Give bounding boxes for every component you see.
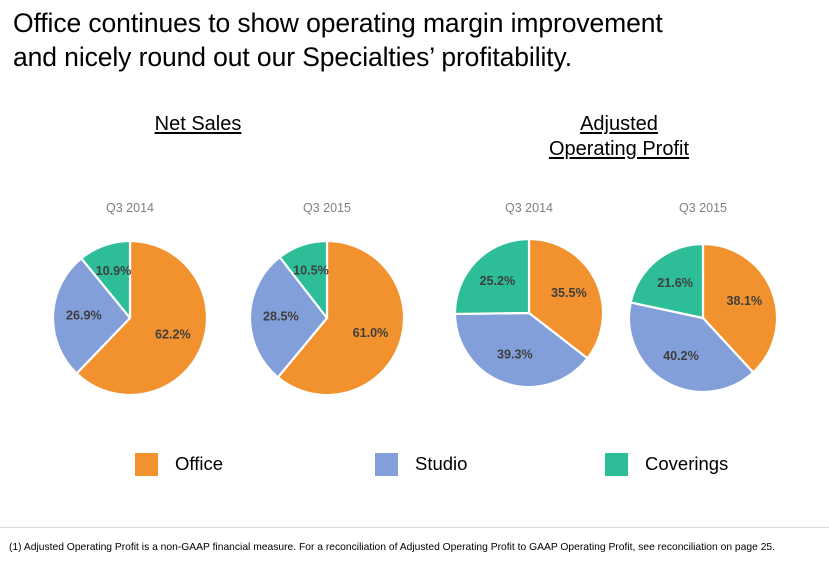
legend-item-office[interactable]: Office [135, 450, 223, 478]
footnote-text: (1) Adjusted Operating Profit is a non-G… [9, 541, 824, 555]
legend-item-studio[interactable]: Studio [375, 450, 467, 478]
pie-slice-label-coverings: 21.6% [657, 276, 693, 290]
legend-swatch-coverings [605, 453, 628, 476]
section-heading-adjusted-operating-profit-line-2: Operating Profit [519, 137, 719, 162]
pie-slice-label-studio: 26.9% [66, 308, 102, 322]
pie-slice-label-office: 62.2% [155, 328, 191, 342]
pie-slice-label-coverings: 10.9% [96, 264, 132, 278]
quarter-label-net-sales-q3-2015: Q3 2015 [267, 201, 387, 215]
legend-label-coverings: Coverings [645, 453, 728, 475]
quarter-label-adjusted-operating-profit-q3-2014: Q3 2014 [469, 201, 589, 215]
pie-slice-label-office: 35.5% [551, 286, 587, 300]
section-heading-net-sales-line-1: Net Sales [98, 112, 298, 137]
pie-chart-net-sales-q3-2014: 62.2%26.9%10.9% [47, 235, 213, 401]
quarter-label-net-sales-q3-2014: Q3 2014 [70, 201, 190, 215]
legend-item-coverings[interactable]: Coverings [605, 450, 728, 478]
section-heading-adjusted-operating-profit: Adjusted Operating Profit [519, 112, 719, 162]
legend-label-office: Office [175, 453, 223, 475]
quarter-label-adjusted-operating-profit-q3-2015: Q3 2015 [643, 201, 763, 215]
pie-slice-label-studio: 28.5% [263, 310, 299, 324]
pie-slice-label-office: 38.1% [727, 294, 763, 308]
section-heading-adjusted-operating-profit-line-1: Adjusted [519, 112, 719, 137]
legend-label-studio: Studio [415, 453, 467, 475]
page-title-line-2: and nicely round out our Specialties’ pr… [13, 40, 813, 74]
pie-chart-adjusted-operating-profit-q3-2014: 35.5%39.3%25.2% [449, 233, 609, 393]
pie-slice-label-studio: 39.3% [497, 347, 533, 361]
pie-slice-label-office: 61.0% [353, 326, 389, 340]
pie-chart-net-sales-q3-2015: 61.0%28.5%10.5% [244, 235, 410, 401]
pie-slice-label-coverings: 25.2% [480, 274, 516, 288]
section-heading-net-sales: Net Sales [98, 112, 298, 137]
pie-chart-adjusted-operating-profit-q3-2015: 38.1%40.2%21.6% [623, 238, 783, 398]
page-title: Office continues to show operating margi… [13, 6, 813, 74]
legend-swatch-studio [375, 453, 398, 476]
pie-slice-label-studio: 40.2% [663, 349, 699, 363]
legend-swatch-office [135, 453, 158, 476]
footnote-divider [0, 527, 829, 528]
page-title-line-1: Office continues to show operating margi… [13, 6, 813, 40]
chart-legend: OfficeStudioCoverings [135, 450, 735, 478]
pie-slice-label-coverings: 10.5% [293, 264, 329, 278]
